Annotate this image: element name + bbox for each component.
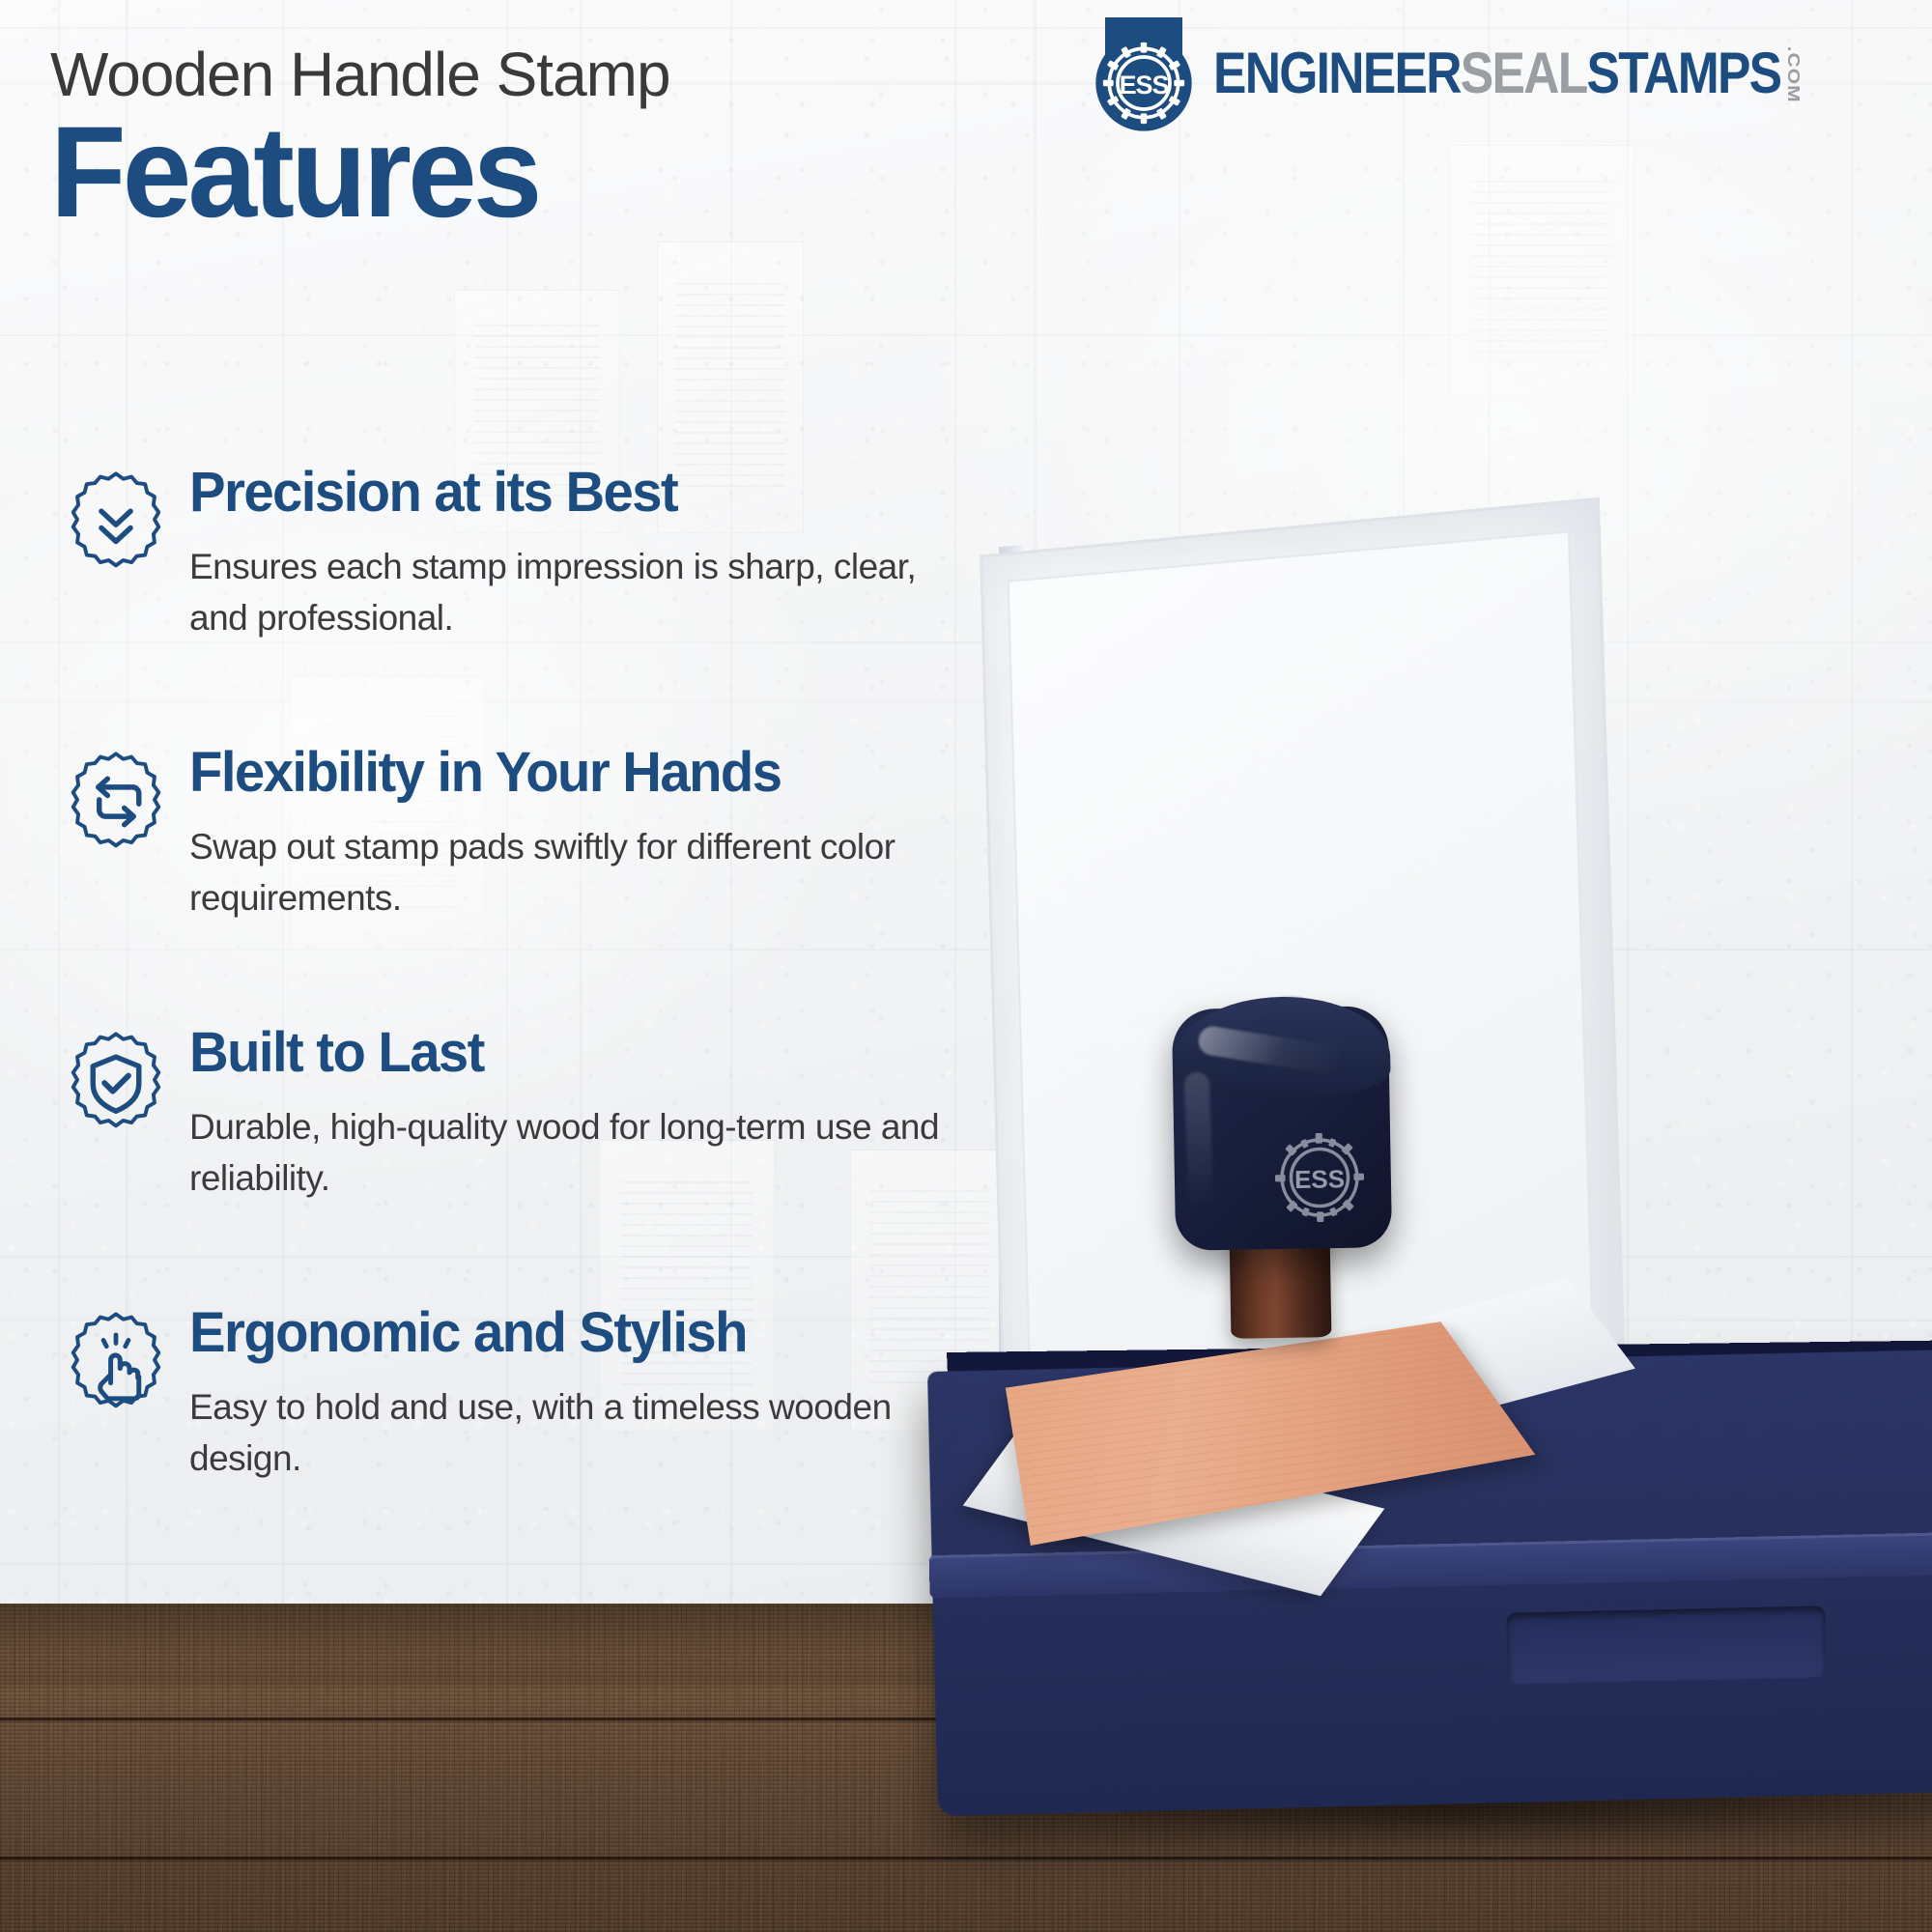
wordmark-stamps: STAMPS	[1587, 44, 1781, 102]
wood-plank-seam	[0, 1718, 1932, 1720]
badge-tap-hand-icon	[64, 1310, 168, 1414]
feature-title: Ergonomic and Stylish	[189, 1304, 989, 1361]
feature-list: Precision at its Best Ensures each stamp…	[39, 464, 1014, 1584]
wordmark-engineer: ENGINEER	[1213, 44, 1461, 102]
page-title: Features	[50, 111, 978, 236]
feature-title: Precision at its Best	[189, 464, 989, 521]
feature-description: Durable, high-quality wood for long-term…	[189, 1102, 962, 1204]
infographic-canvas: ESS Wooden Handle Stamp Features	[0, 0, 1932, 1932]
page-subtitle: Wooden Handle Stamp	[50, 43, 1016, 107]
feature-item: Built to Last Durable, high-quality wood…	[39, 1024, 1014, 1304]
feature-item: Flexibility in Your Hands Swap out stamp…	[39, 744, 1014, 1024]
feature-item: Precision at its Best Ensures each stamp…	[39, 464, 1014, 744]
feature-description: Easy to hold and use, with a timeless wo…	[189, 1382, 962, 1484]
brand-logo[interactable]: ESS ENGINEER SEAL STAMPS .COM	[1088, 17, 1897, 129]
brand-wordmark: ENGINEER SEAL STAMPS .COM	[1213, 44, 1802, 102]
logo-badge-text: ESS	[1120, 71, 1169, 99]
logo-gear-shape: ESS	[1092, 31, 1196, 118]
ess-badge-icon: ESS	[1088, 17, 1200, 129]
feature-title: Built to Last	[189, 1024, 989, 1081]
wood-plank-seam	[0, 1857, 1932, 1860]
page-title-block: Wooden Handle Stamp Features	[50, 43, 1016, 236]
feature-description: Swap out stamp pads swiftly for differen…	[189, 822, 962, 923]
badge-shield-check-icon	[64, 1030, 168, 1134]
badge-chevron-down-icon	[64, 469, 168, 574]
feature-title: Flexibility in Your Hands	[189, 744, 989, 801]
feature-description: Ensures each stamp impression is sharp, …	[189, 542, 962, 643]
table-wood-surface	[0, 1604, 1932, 1932]
feature-item: Ergonomic and Stylish Easy to hold and u…	[39, 1304, 1014, 1584]
wordmark-com: .COM	[1785, 45, 1802, 102]
wordmark-seal: SEAL	[1461, 44, 1587, 102]
badge-swap-arrows-icon	[64, 750, 168, 854]
wood-top-shadow	[0, 1604, 1932, 1656]
